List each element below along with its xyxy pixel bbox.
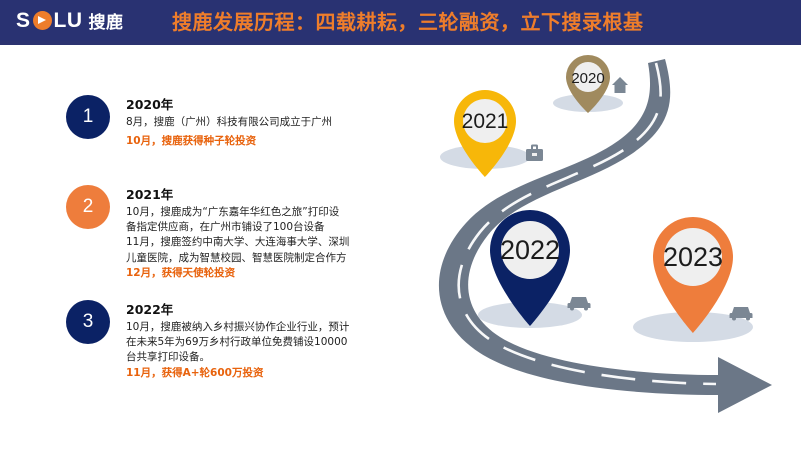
page-title: 搜鹿发展历程：四载耕耘，三轮融资，立下搜录根基: [172, 6, 644, 35]
car-icon: [568, 297, 591, 311]
timeline-line-highlight: 10月，搜鹿获得种子轮投资: [126, 134, 332, 149]
timeline-badge: 3: [66, 300, 110, 344]
brand-logo[interactable]: S LU 搜鹿: [0, 0, 150, 41]
logo-letter-s: S: [16, 10, 31, 31]
timeline-line-highlight: 11月，获得A+轮600万投资: [126, 366, 349, 381]
pin-label-2022: 2022: [500, 235, 560, 265]
timeline-year: 2020年: [126, 97, 332, 114]
timeline-item-2021[interactable]: 2 2021年 10月，搜鹿成为“广东嘉年华红色之旅”打印设 备指定供应商，在广…: [66, 185, 349, 281]
timeline-badge: 1: [66, 95, 110, 139]
timeline-year: 2021年: [126, 187, 349, 204]
timeline-line: 10月，搜鹿被纳入乡村振兴协作企业行业，预计: [126, 320, 349, 335]
play-arrow-icon: [33, 11, 52, 30]
house-icon: [612, 77, 628, 93]
timeline-line: 11月，搜鹿签约中南大学、大连海事大学、深圳: [126, 235, 349, 250]
timeline-line: 儿童医院，成为智慧校园、智慧医院制定合作方: [126, 251, 349, 266]
timeline-year: 2022年: [126, 302, 349, 319]
roadmap-illustration: 2020 2021 2022 2023: [380, 45, 801, 449]
pin-label-2020: 2020: [571, 70, 604, 87]
timeline-line: 备指定供应商，在广州市铺设了100台设备: [126, 220, 349, 235]
app-header: S LU 搜鹿 搜鹿发展历程：四载耕耘，三轮融资，立下搜录根基: [0, 0, 801, 41]
timeline-line-highlight: 12月，获得天使轮投资: [126, 266, 349, 281]
timeline-line: 8月，搜鹿（广州）科技有限公司成立于广州: [126, 115, 332, 130]
pin-label-2023: 2023: [663, 242, 723, 272]
timeline-item-2022[interactable]: 3 2022年 10月，搜鹿被纳入乡村振兴协作企业行业，预计 在未来5年为69万…: [66, 300, 349, 381]
timeline-badge: 2: [66, 185, 110, 229]
briefcase-icon: [526, 145, 543, 162]
logo-chinese-name: 搜鹿: [89, 8, 124, 33]
timeline-item-2020[interactable]: 1 2020年 8月，搜鹿（广州）科技有限公司成立于广州 10月，搜鹿获得种子轮…: [66, 95, 332, 149]
logo-letters-lu: LU: [54, 10, 83, 31]
pin-label-2021: 2021: [462, 110, 509, 133]
timeline-line: 10月，搜鹿成为“广东嘉年华红色之旅”打印设: [126, 205, 349, 220]
timeline-list: 1 2020年 8月，搜鹿（广州）科技有限公司成立于广州 10月，搜鹿获得种子轮…: [0, 45, 400, 449]
timeline-line: 在未来5年为69万乡村行政单位免费铺设10000: [126, 335, 349, 350]
timeline-line: 台共享打印设备。: [126, 350, 349, 365]
